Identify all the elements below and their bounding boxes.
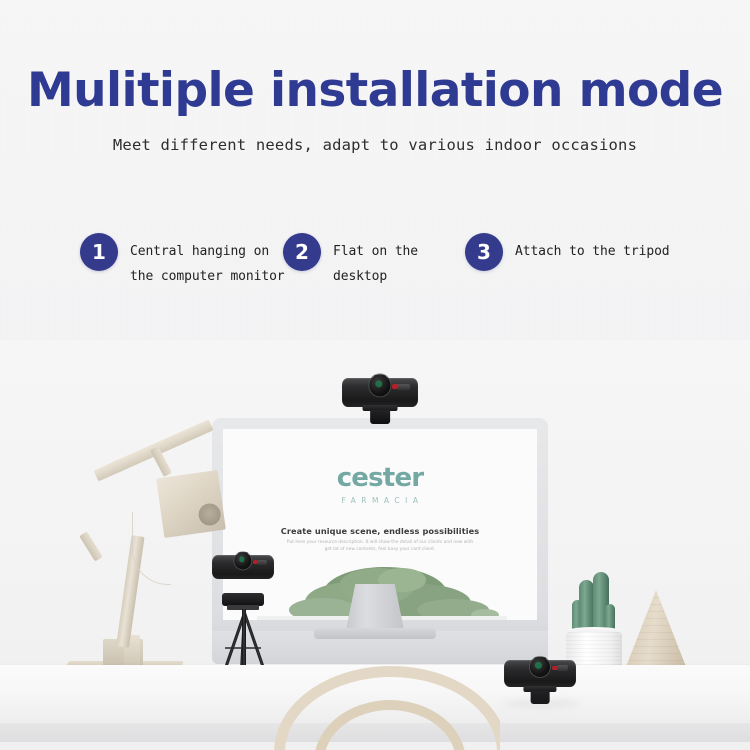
poster-header: Mulitiple installation mode Meet differe… — [0, 0, 750, 154]
cactus-arm-1 — [579, 580, 594, 634]
webcam-lens-icon — [369, 375, 390, 396]
webcam-lens-glint — [239, 557, 245, 563]
webcam-body — [342, 378, 418, 407]
webcam-lens-glint — [375, 380, 382, 387]
monitor-stand-neck — [346, 584, 404, 630]
screen-headline: Create unique scene, endless possibiliti… — [223, 526, 537, 536]
webcam-body — [504, 660, 576, 687]
product-poster: Mulitiple installation mode Meet differe… — [0, 0, 750, 750]
product-scene-photo: cester FARMACIA Create unique scene, end… — [0, 340, 750, 750]
lamp-shade — [156, 470, 226, 538]
webcam-lens-icon — [234, 552, 251, 569]
step-label-2: Flat on the desktop — [333, 232, 458, 289]
installation-steps: 1 Central hanging on the computer monito… — [0, 232, 750, 342]
step-badge-1: 1 — [80, 233, 118, 271]
logo-wordmark: cester — [223, 465, 537, 491]
webcam-microphone — [557, 665, 569, 671]
webcam-lens-icon — [530, 657, 550, 677]
desktop-webcam-shadow — [502, 700, 580, 707]
webcam-clip-stem — [370, 410, 390, 424]
step-item-3: 3 Attach to the tripod — [465, 232, 710, 271]
webcam-lens-glint — [535, 662, 542, 669]
step-label-3: Attach to the tripod — [515, 232, 670, 264]
screen-body-text: Put here your resource description. It w… — [283, 540, 477, 553]
monitor-stand-foot — [314, 628, 436, 639]
page-title: Mulitiple installation mode — [0, 0, 750, 115]
step-badge-3: 3 — [465, 233, 503, 271]
tripod-column — [242, 609, 246, 665]
lamp-cross-peg-a — [79, 531, 103, 561]
wooden-desk-lamp — [58, 452, 228, 687]
webcam-on-desktop-icon — [504, 660, 576, 704]
step-label-1: Central hanging on the computer monitor — [130, 232, 285, 289]
webcam-on-monitor-icon — [342, 378, 418, 424]
webcam-microphone — [257, 560, 267, 565]
page-subtitle: Meet different needs, adapt to various i… — [0, 115, 750, 154]
beige-wooden-rings — [270, 658, 500, 750]
screen-logo: cester FARMACIA — [223, 465, 537, 505]
step-item-2: 2 Flat on the desktop — [283, 232, 458, 289]
step-item-1: 1 Central hanging on the computer monito… — [80, 232, 285, 289]
logo-subtitle: FARMACIA — [223, 496, 537, 505]
tripod-brace — [225, 647, 261, 649]
step-badge-2: 2 — [283, 233, 321, 271]
webcam-microphone — [397, 384, 409, 390]
